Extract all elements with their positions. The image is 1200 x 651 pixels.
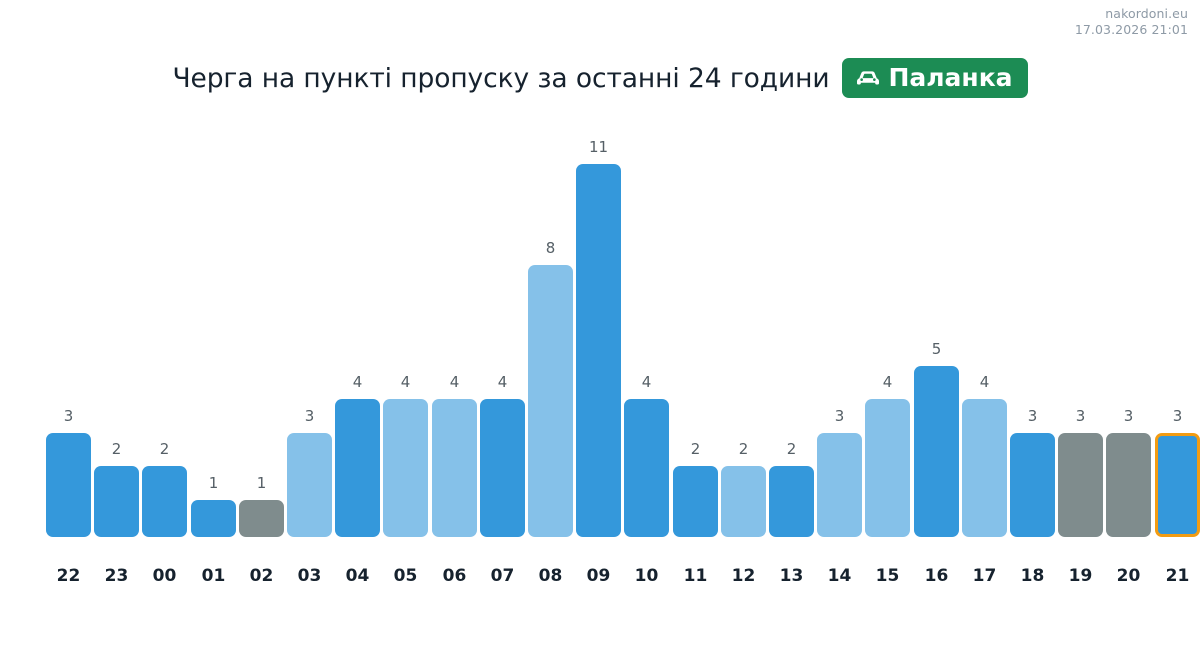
bar-16[interactable]	[914, 366, 959, 537]
crossing-point-label: Паланка	[888, 65, 1012, 90]
bar-column: 3	[1106, 130, 1151, 537]
bar-column: 2	[94, 130, 139, 537]
bar-21[interactable]	[1155, 433, 1200, 537]
x-tick-21: 21	[1155, 566, 1200, 586]
x-tick-17: 17	[962, 566, 1007, 586]
x-tick-13: 13	[769, 566, 814, 586]
bar-value-label: 11	[576, 140, 621, 155]
bar-value-label: 3	[1106, 409, 1151, 424]
title-row: Черга на пункті пропуску за останні 24 г…	[0, 58, 1200, 98]
bar-22[interactable]	[46, 433, 91, 537]
bar-column: 3	[1155, 130, 1200, 537]
bar-19[interactable]	[1058, 433, 1103, 537]
bar-value-label: 1	[239, 476, 284, 491]
x-tick-02: 02	[239, 566, 284, 586]
x-tick-12: 12	[721, 566, 766, 586]
x-tick-04: 04	[335, 566, 380, 586]
bar-column: 1	[191, 130, 236, 537]
x-tick-23: 23	[94, 566, 139, 586]
bar-column: 2	[769, 130, 814, 537]
crossing-point-badge[interactable]: Паланка	[842, 58, 1027, 98]
bar-column: 8	[528, 130, 573, 537]
car-icon	[855, 69, 881, 87]
bar-value-label: 2	[721, 442, 766, 457]
bar-value-label: 4	[962, 375, 1007, 390]
bar-column: 3	[287, 130, 332, 537]
bar-17[interactable]	[962, 399, 1007, 537]
x-tick-01: 01	[191, 566, 236, 586]
bar-20[interactable]	[1106, 433, 1151, 537]
x-tick-14: 14	[817, 566, 862, 586]
bar-06[interactable]	[432, 399, 477, 537]
watermark-timestamp: 17.03.2026 21:01	[1075, 22, 1188, 38]
bar-column: 4	[624, 130, 669, 537]
bar-value-label: 4	[624, 375, 669, 390]
bar-value-label: 5	[914, 342, 959, 357]
x-tick-08: 08	[528, 566, 573, 586]
bar-value-label: 3	[817, 409, 862, 424]
x-tick-11: 11	[673, 566, 718, 586]
x-tick-03: 03	[287, 566, 332, 586]
bar-value-label: 4	[432, 375, 477, 390]
bar-value-label: 8	[528, 241, 573, 256]
bar-04[interactable]	[335, 399, 380, 537]
bar-23[interactable]	[94, 466, 139, 537]
x-tick-06: 06	[432, 566, 477, 586]
x-tick-05: 05	[383, 566, 428, 586]
bar-10[interactable]	[624, 399, 669, 537]
bar-value-label: 3	[1155, 409, 1200, 424]
x-tick-20: 20	[1106, 566, 1151, 586]
bar-value-label: 4	[865, 375, 910, 390]
bar-column: 2	[673, 130, 718, 537]
bar-18[interactable]	[1010, 433, 1055, 537]
bar-value-label: 2	[94, 442, 139, 457]
bar-value-label: 2	[673, 442, 718, 457]
bar-08[interactable]	[528, 265, 573, 537]
page-title: Черга на пункті пропуску за останні 24 г…	[172, 63, 829, 94]
x-tick-10: 10	[624, 566, 669, 586]
bar-02[interactable]	[239, 500, 284, 537]
bar-chart-plot-area: 3221134444811422234543333	[46, 130, 1154, 537]
x-tick-18: 18	[1010, 566, 1055, 586]
bar-value-label: 2	[769, 442, 814, 457]
bar-column: 3	[817, 130, 862, 537]
bar-column: 4	[865, 130, 910, 537]
bar-value-label: 3	[1010, 409, 1055, 424]
bar-value-label: 3	[46, 409, 91, 424]
bar-column: 3	[46, 130, 91, 537]
bar-column: 1	[239, 130, 284, 537]
bar-09[interactable]	[576, 164, 621, 537]
bar-value-label: 4	[480, 375, 525, 390]
bar-14[interactable]	[817, 433, 862, 537]
bar-column: 11	[576, 130, 621, 537]
bar-15[interactable]	[865, 399, 910, 537]
bar-value-label: 3	[287, 409, 332, 424]
x-axis-labels: 2223000102030405060708091011121314151617…	[46, 566, 1154, 592]
x-tick-15: 15	[865, 566, 910, 586]
x-tick-07: 07	[480, 566, 525, 586]
bar-column: 3	[1058, 130, 1103, 537]
bar-05[interactable]	[383, 399, 428, 537]
bar-11[interactable]	[673, 466, 718, 537]
x-tick-16: 16	[914, 566, 959, 586]
bar-value-label: 3	[1058, 409, 1103, 424]
bar-value-label: 4	[335, 375, 380, 390]
bar-column: 4	[383, 130, 428, 537]
bar-column: 2	[721, 130, 766, 537]
bar-column: 5	[914, 130, 959, 537]
bar-value-label: 4	[383, 375, 428, 390]
x-tick-22: 22	[46, 566, 91, 586]
watermark: nakordoni.eu 17.03.2026 21:01	[1075, 6, 1188, 38]
watermark-site: nakordoni.eu	[1075, 6, 1188, 22]
bar-column: 4	[432, 130, 477, 537]
bar-column: 4	[480, 130, 525, 537]
bar-column: 4	[335, 130, 380, 537]
bar-03[interactable]	[287, 433, 332, 537]
bar-12[interactable]	[721, 466, 766, 537]
bar-column: 3	[1010, 130, 1055, 537]
bar-13[interactable]	[769, 466, 814, 537]
bar-column: 2	[142, 130, 187, 537]
bar-00[interactable]	[142, 466, 187, 537]
bar-01[interactable]	[191, 500, 236, 537]
bar-value-label: 1	[191, 476, 236, 491]
bar-column: 4	[962, 130, 1007, 537]
bar-value-label: 2	[142, 442, 187, 457]
x-tick-00: 00	[142, 566, 187, 586]
bar-07[interactable]	[480, 399, 525, 537]
x-tick-09: 09	[576, 566, 621, 586]
x-tick-19: 19	[1058, 566, 1103, 586]
